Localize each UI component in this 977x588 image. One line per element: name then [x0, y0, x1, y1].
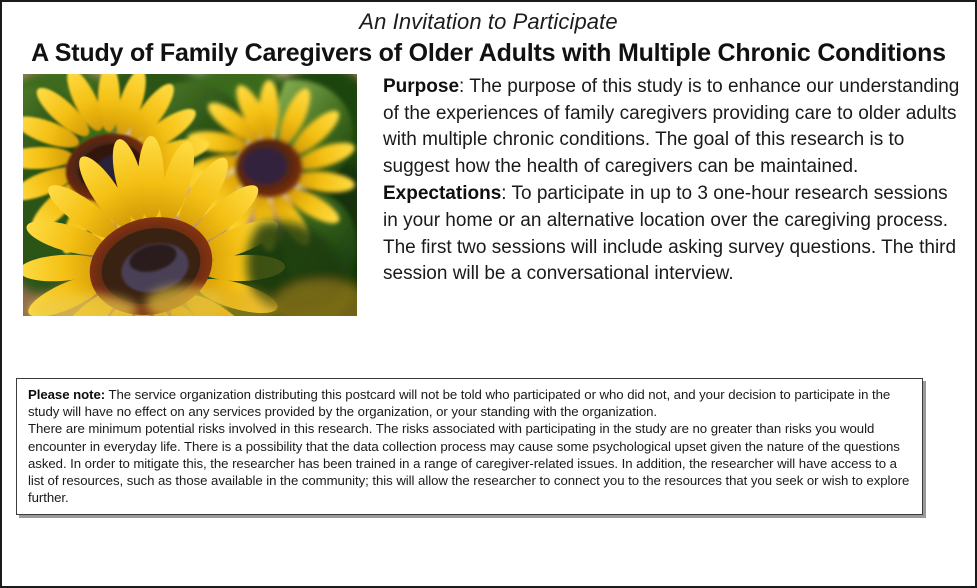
- note-lead-label: Please note:: [28, 387, 105, 402]
- postcard-header: An Invitation to Participate A Study of …: [2, 2, 975, 68]
- page-title: A Study of Family Caregivers of Older Ad…: [16, 38, 961, 68]
- postcard-container: An Invitation to Participate A Study of …: [0, 0, 977, 588]
- purpose-label: Purpose: [383, 76, 459, 97]
- purpose-separator: :: [459, 76, 469, 97]
- purpose-paragraph: Purpose: The purpose of this study is to…: [383, 74, 961, 180]
- note-paragraph-2: There are minimum potential risks involv…: [28, 420, 912, 506]
- please-note-box: Please note: The service organization di…: [16, 378, 923, 515]
- expectations-paragraph: Expectations: To participate in up to 3 …: [383, 181, 961, 287]
- sunflower-photo-graphic: [23, 74, 357, 316]
- note-paragraph-1-text: The service organization distributing th…: [28, 387, 890, 419]
- note-paragraph-1: Please note: The service organization di…: [28, 386, 912, 420]
- expectations-separator: :: [501, 183, 511, 204]
- please-note-box-inner: Please note: The service organization di…: [17, 379, 922, 514]
- body-text-column: Purpose: The purpose of this study is to…: [357, 74, 963, 289]
- sunflower-bouquet-photo: [23, 74, 357, 316]
- purpose-text: The purpose of this study is to enhance …: [383, 76, 959, 177]
- expectations-label: Expectations: [383, 183, 501, 204]
- content-row: Purpose: The purpose of this study is to…: [2, 68, 975, 316]
- eyebrow-text: An Invitation to Participate: [16, 8, 961, 36]
